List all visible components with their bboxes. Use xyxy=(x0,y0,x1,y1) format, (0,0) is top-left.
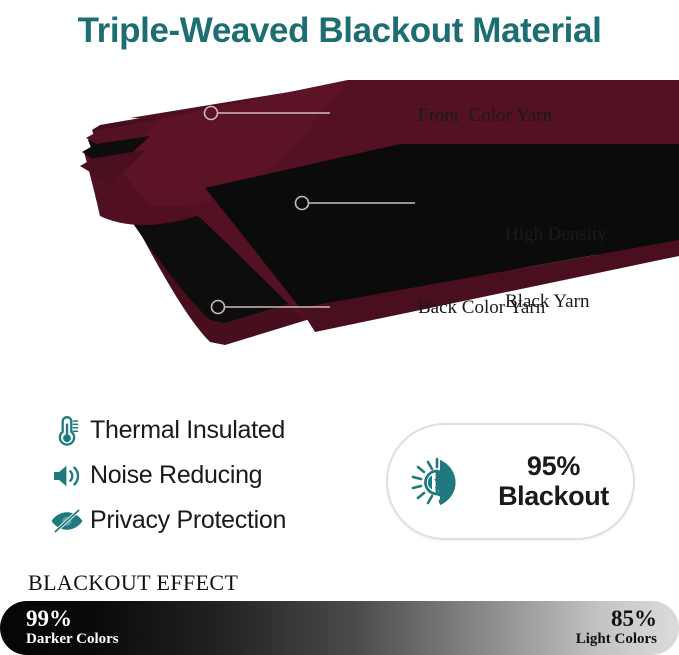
blackout-text-block: 95% Blackout xyxy=(480,452,633,511)
header: Triple-Weaved Blackout Material xyxy=(0,0,679,62)
callout-front-color-yarn: Front Color Yarn xyxy=(418,105,552,127)
feature-row-thermal-insulated: Thermal Insulated xyxy=(44,408,374,453)
feature-row-privacy-protection: Privacy Protection xyxy=(44,498,374,543)
eye-slash-icon xyxy=(44,508,90,534)
feature-label: Thermal Insulated xyxy=(90,416,285,445)
callout-back-color-yarn: Back Color Yarn xyxy=(418,297,545,319)
gradient-left-labels: 99% Darker Colors xyxy=(26,607,119,648)
darker-colors-percent: 99% xyxy=(26,607,119,631)
blackout-badge: 95% Blackout xyxy=(386,423,635,540)
darker-colors-caption: Darker Colors xyxy=(26,631,119,648)
blackout-label: Blackout xyxy=(498,482,609,512)
feature-list: Thermal Insulated Noise Reducing Privacy… xyxy=(44,408,374,543)
blackout-percent: 95% xyxy=(527,452,580,482)
thermometer-icon xyxy=(44,414,90,448)
callout-line-1: High Density xyxy=(505,224,607,246)
feature-row-noise-reducing: Noise Reducing xyxy=(44,453,374,498)
feature-label: Noise Reducing xyxy=(90,461,262,490)
sun-behind-curtain-icon xyxy=(388,451,480,513)
light-colors-percent: 85% xyxy=(576,607,657,631)
feature-label: Privacy Protection xyxy=(90,506,286,535)
speaker-sound-icon xyxy=(44,461,90,491)
blackout-effect-heading: BLACKOUT EFFECT xyxy=(28,570,238,596)
page-title: Triple-Weaved Blackout Material xyxy=(78,11,602,51)
gradient-right-labels: 85% Light Colors xyxy=(576,607,657,648)
light-colors-caption: Light Colors xyxy=(576,631,657,648)
